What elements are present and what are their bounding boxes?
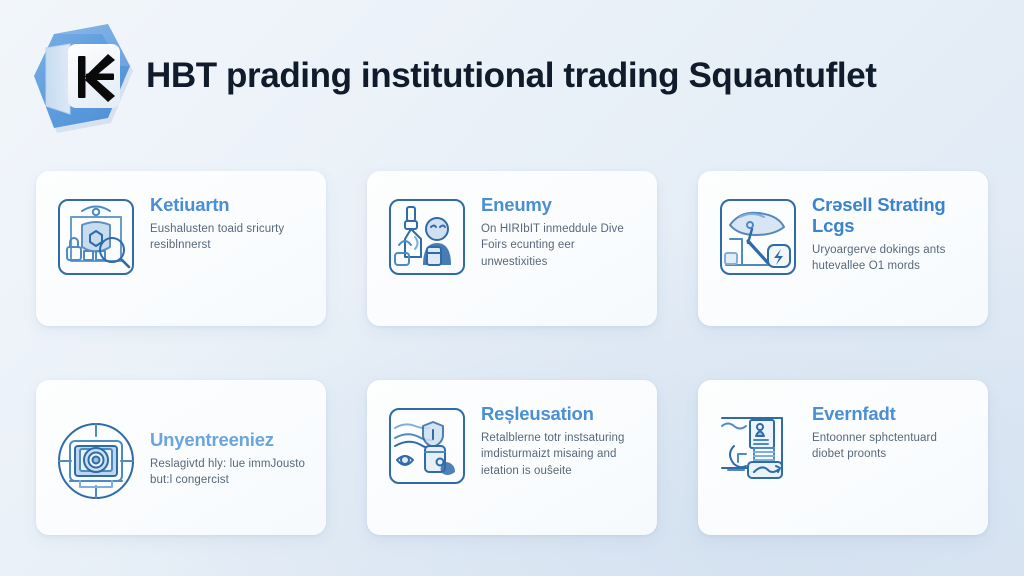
card-body: Entoonner sphctentuard diobet proonts [812, 430, 972, 463]
feature-card-evernfadt[interactable]: Evernfadt Entoonner sphctentuard diobet … [698, 380, 988, 535]
feature-card-ketiuartn[interactable]: Ketiuartn Eushalusten toaid sricurty res… [36, 171, 326, 326]
card-title: Eneumy [481, 195, 641, 216]
hexagon-k-logo-icon [24, 18, 136, 133]
card-text-block: Reșleusation Retalblerne totr instsaturi… [481, 402, 641, 479]
microscope-person-beaker-icon [385, 195, 469, 279]
card-text-block: Crəsell Strating Lcgs Uryoargerve doking… [812, 193, 972, 274]
feature-card-eneumy[interactable]: Eneumy On HIRIbIT inmeddule Dive Foirs e… [367, 171, 657, 326]
page-title: HBT prading institutional trading Squant… [146, 58, 877, 93]
card-body: On HIRIbIT inmeddule Dive Foirs ecunting… [481, 221, 641, 270]
card-body: Uryoargerve dokings ants hutevallee O1 m… [812, 242, 972, 275]
machine-arm-lightning-bolt-icon [716, 195, 800, 279]
shield-clipboard-lock-magnifier-icon [54, 195, 138, 279]
feature-card-unyentreeniez[interactable]: Unyentreeniez Reslagivtd hly: lue immJou… [36, 380, 326, 535]
card-text-block: Unyentreeniez Reslagivtd hly: lue immJou… [150, 430, 310, 489]
card-title: Crəsell Strating Lcgs [812, 195, 972, 237]
camera-lens-target-circle-icon [54, 419, 138, 503]
document-factory-chart-icon [716, 404, 800, 488]
card-text-block: Ketiuartn Eushalusten toaid sricurty res… [150, 193, 310, 254]
card-title: Ketiuartn [150, 195, 310, 216]
page-header: HBT prading institutional trading Squant… [24, 18, 877, 133]
card-title: Evernfadt [812, 404, 972, 425]
feature-card-grid: Ketiuartn Eushalusten toaid sricurty res… [36, 171, 988, 535]
hand-shield-phone-gear-icon [385, 404, 469, 488]
card-body: Eushalusten toaid sricurty resiblnnerst [150, 221, 310, 254]
card-body: Retalblerne totr instsaturing imdisturma… [481, 430, 641, 479]
card-text-block: Eneumy On HIRIbIT inmeddule Dive Foirs e… [481, 193, 641, 270]
feature-card-crasell-strating-lcgs[interactable]: Crəsell Strating Lcgs Uryoargerve doking… [698, 171, 988, 326]
card-text-block: Evernfadt Entoonner sphctentuard diobet … [812, 402, 972, 463]
feature-card-reseusation[interactable]: Reșleusation Retalblerne totr instsaturi… [367, 380, 657, 535]
card-title: Reșleusation [481, 404, 641, 425]
card-title: Unyentreeniez [150, 430, 310, 451]
card-body: Reslagivtd hly: lue immJousto but:l cong… [150, 456, 310, 489]
